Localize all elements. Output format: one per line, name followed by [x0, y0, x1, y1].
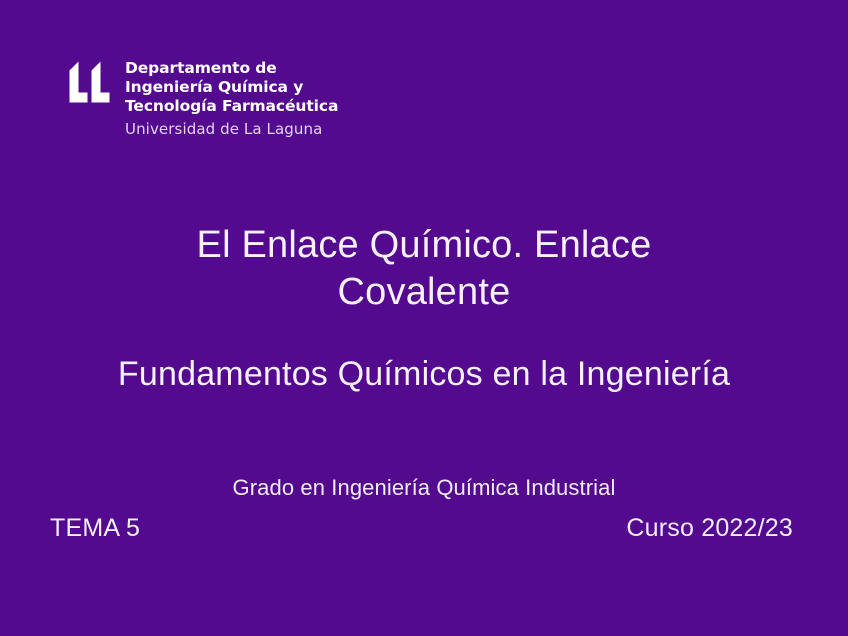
title-slide: Departamento de Ingeniería Química y Tec…	[0, 0, 848, 636]
slide-title: El Enlace Químico. Enlace Covalente	[110, 222, 738, 316]
department-line-3: Tecnología Farmacéutica	[125, 97, 338, 116]
slide-subtitle: Fundamentos Químicos en la Ingeniería	[110, 352, 738, 396]
topic-number: TEMA 5	[50, 512, 140, 544]
university-name: Universidad de La Laguna	[125, 118, 338, 140]
department-line-1: Departamento de	[125, 59, 338, 78]
slide-footer: TEMA 5 Curso 2022/23	[50, 512, 793, 544]
department-line-2: Ingeniería Química y	[125, 78, 338, 97]
institution-text: Departamento de Ingeniería Química y Tec…	[125, 58, 338, 140]
academic-year: Curso 2022/23	[626, 512, 793, 544]
ull-logo-mark-icon	[66, 61, 111, 103]
institution-logo-block: Departamento de Ingeniería Química y Tec…	[66, 58, 338, 140]
degree-programme: Grado en Ingeniería Química Industrial	[60, 474, 788, 502]
